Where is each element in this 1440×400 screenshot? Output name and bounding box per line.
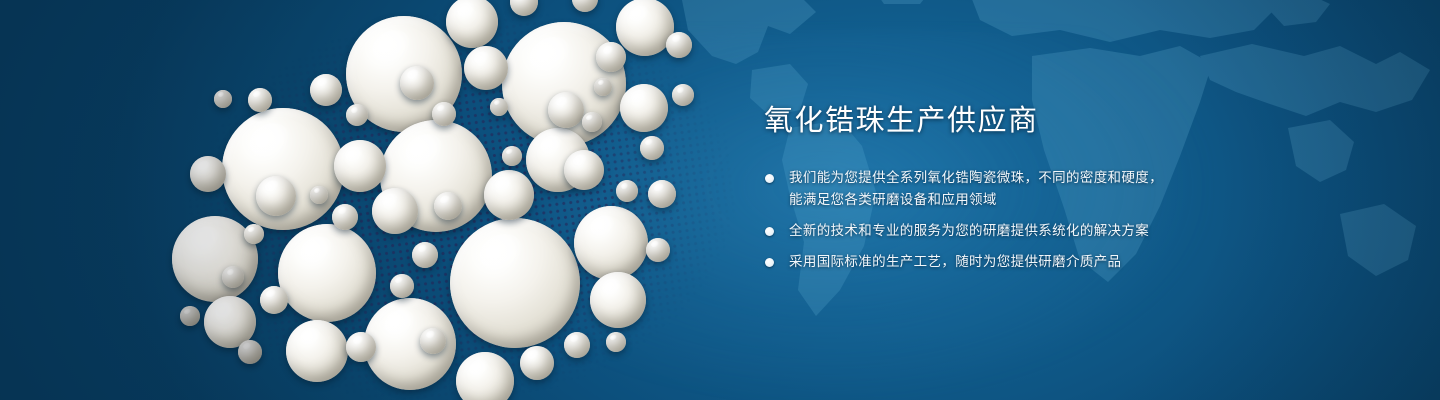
bullet-dot-icon: [765, 227, 774, 236]
list-item-line: 我们能为您提供全系列氧化锆陶瓷微珠，不同的密度和硬度，: [789, 167, 1360, 189]
feature-list: 我们能为您提供全系列氧化锆陶瓷微珠，不同的密度和硬度， 能满足您各类研磨设备和应…: [760, 167, 1360, 273]
bullet-dot-icon: [765, 258, 774, 267]
list-item: 我们能为您提供全系列氧化锆陶瓷微珠，不同的密度和硬度， 能满足您各类研磨设备和应…: [760, 167, 1360, 211]
list-item: 采用国际标准的生产工艺，随时为您提供研磨介质产品: [760, 251, 1360, 273]
list-item-line: 能满足您各类研磨设备和应用领域: [789, 189, 1360, 211]
banner-content: 氧化锆珠生产供应商 我们能为您提供全系列氧化锆陶瓷微珠，不同的密度和硬度， 能满…: [760, 104, 1360, 273]
bullet-dot-icon: [765, 174, 774, 183]
list-item-line: 全新的技术和专业的服务为您的研磨提供系统化的解决方案: [789, 220, 1360, 242]
hero-banner: 氧化锆珠生产供应商 我们能为您提供全系列氧化锆陶瓷微珠，不同的密度和硬度， 能满…: [0, 0, 1440, 400]
list-item: 全新的技术和专业的服务为您的研磨提供系统化的解决方案: [760, 220, 1360, 242]
list-item-line: 采用国际标准的生产工艺，随时为您提供研磨介质产品: [789, 251, 1360, 273]
page-title: 氧化锆珠生产供应商: [764, 104, 1360, 139]
